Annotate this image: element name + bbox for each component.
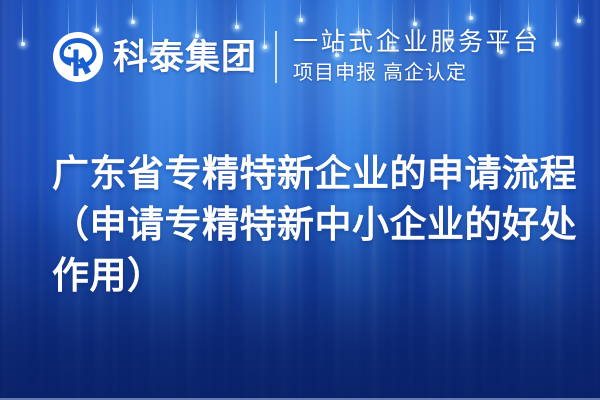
page-title: 广东省专精特新企业的申请流程 （申请专精特新中小企业的好处 作用） [52,148,570,301]
title-line-1: 广东省专精特新企业的申请流程 [52,148,570,199]
tagline-secondary: 项目申报 高企认定 [293,60,541,86]
light-streak [236,0,237,27]
light-streak [556,0,557,44]
light-streak [96,0,97,30]
light-streak [132,0,133,22]
title-line-3: 作用） [52,250,570,301]
title-line-2: （申请专精特新中小企业的好处 [52,199,570,250]
header-divider [275,31,277,83]
light-streak [22,0,23,44]
ketai-circular-logo-icon [52,31,104,83]
light-streak [300,0,301,20]
brand-name: 科泰集团 [113,40,257,75]
tagline-block: 一站式企业服务平台 项目申报 高企认定 [293,28,541,86]
promo-banner: 科泰集团 一站式企业服务平台 项目申报 高企认定 广东省专精特新企业的申请流程 … [0,0,600,400]
light-streak [414,0,415,24]
light-streak [578,0,579,21]
light-streak [470,0,471,18]
tagline-primary: 一站式企业服务平台 [293,28,541,57]
light-streak [528,0,529,29]
brand-header: 科泰集团 一站式企业服务平台 项目申报 高企认定 [52,28,541,86]
